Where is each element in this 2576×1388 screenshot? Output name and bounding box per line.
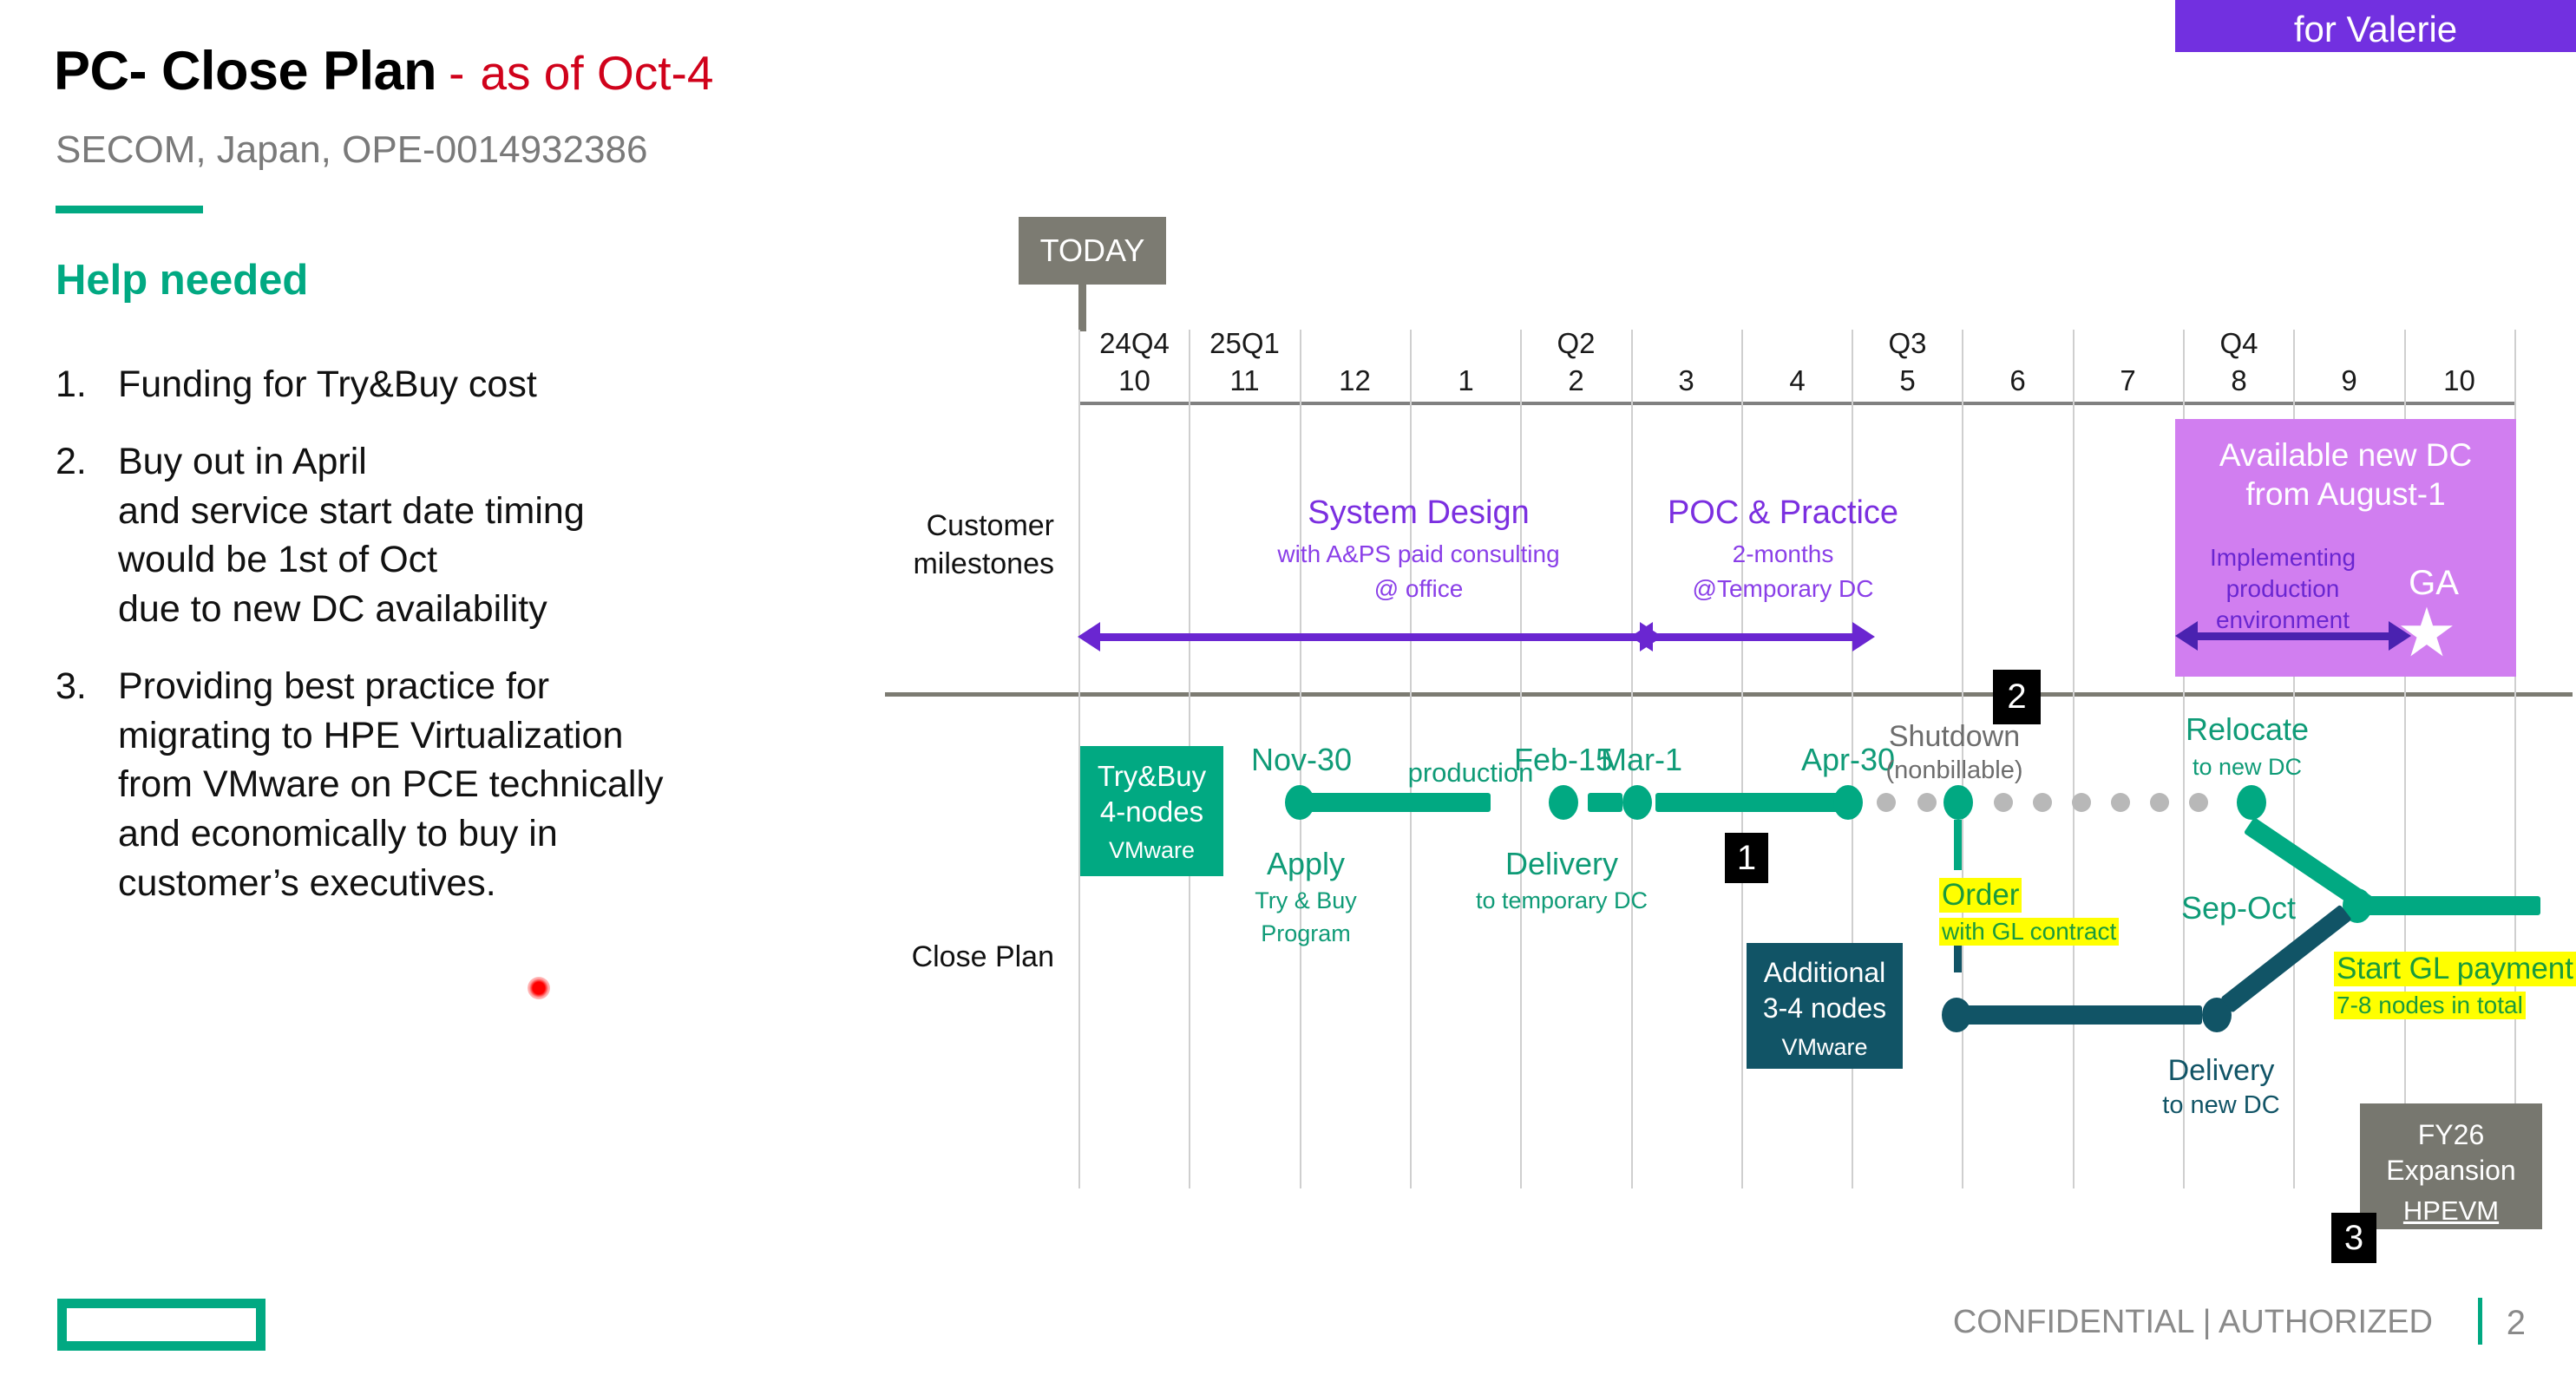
valerie-note-line2: for Valerie xyxy=(2175,7,2576,52)
column-header-month: 10 xyxy=(1079,364,1190,397)
arrow-poc-head-left xyxy=(1630,622,1653,651)
label-delivery-temp-sub: to temporary DC xyxy=(1419,885,1705,918)
list-item: 2. Buy out in April and service start da… xyxy=(56,437,836,634)
today-flag-stem xyxy=(1078,285,1086,331)
milestone-subtitle: with A&PS paid consulting @ office xyxy=(1189,537,1649,606)
milestone-dot-apr30 xyxy=(1833,785,1863,820)
label-order-sub: with GL contract xyxy=(1939,918,2119,946)
footer-separator xyxy=(2478,1298,2482,1345)
row-label-line1: Customer xyxy=(829,507,1054,546)
arrow-dc-head-left xyxy=(2175,621,2198,651)
column-header-quarter: 24Q4 xyxy=(1079,327,1190,360)
mouse-cursor-dot xyxy=(528,977,550,999)
timeline-bar-additional xyxy=(1965,1005,2202,1025)
page-number: 2 xyxy=(2507,1304,2526,1343)
page-title: PC- Close Plan xyxy=(54,40,436,102)
timeline-bar-sepoct xyxy=(2367,896,2540,915)
column-header-month: 8 xyxy=(2184,364,2294,397)
valerie-note-line1: as of October-4 xyxy=(2175,0,2576,7)
column-header-month: 5 xyxy=(1852,364,1963,397)
additional-nodes-block: Additional 3-4 nodes VMware xyxy=(1747,943,1903,1069)
label-delivery-newdc-sub: to new DC xyxy=(2134,1091,2308,1120)
grid-column-line xyxy=(2073,330,2075,1188)
badge-1: 1 xyxy=(1725,833,1768,883)
title-dash: - xyxy=(449,45,464,101)
fy26-title: FY26 Expansion xyxy=(2360,1117,2542,1188)
column-header-month: 2 xyxy=(1521,364,1631,397)
dc-block-title: Available new DC from August-1 xyxy=(2175,435,2516,514)
label-delivery-newdc-title: Delivery xyxy=(2134,1054,2308,1088)
slide-root: as of October-4 for Valerie PC- Close Pl… xyxy=(0,0,2576,1388)
label-start-gl-payment: Start GL payment xyxy=(2334,952,2576,986)
section-heading: Help needed xyxy=(56,256,308,304)
dotted-marker xyxy=(2033,793,2052,812)
trybuy-4nodes-block: Try&Buy 4-nodes VMware xyxy=(1080,746,1223,876)
title-asof-date: as of Oct-4 xyxy=(480,45,713,101)
bullet-text: Funding for Try&Buy cost xyxy=(118,360,537,409)
gl-nodes-highlight: 7-8 nodes in total xyxy=(2334,992,2526,1019)
milestone-subtitle: 2-months @Temporary DC xyxy=(1609,537,1957,606)
gl-payment-highlight: Start GL payment xyxy=(2334,952,2576,986)
column-header-month: 6 xyxy=(1963,364,2073,397)
additional-vendor: VMware xyxy=(1747,1034,1903,1061)
column-header-quarter: Q3 xyxy=(1852,327,1963,360)
label-shutdown-sub: (nonbillable) xyxy=(1839,756,2069,785)
label-gl-nodes-total: 7-8 nodes in total xyxy=(2334,992,2526,1019)
accent-bar xyxy=(56,206,203,213)
milestone-dot-shutdown xyxy=(1943,785,1973,820)
label-apply-title: Apply xyxy=(1249,846,1362,882)
arrow-system-design-line xyxy=(1100,633,1640,641)
timeline-bar-mar-apr xyxy=(1655,793,1842,812)
arrow-poc-line xyxy=(1653,633,1852,641)
dotted-marker xyxy=(2111,793,2130,812)
subtitle: SECOM, Japan, OPE-0014932386 xyxy=(56,128,647,172)
dotted-marker xyxy=(2150,793,2169,812)
dotted-marker xyxy=(2189,793,2208,812)
dotted-marker xyxy=(2072,793,2091,812)
order-highlight: Order xyxy=(1939,878,2022,913)
grid-column-line xyxy=(1741,330,1743,1188)
milestone-title: POC & Practice xyxy=(1609,494,1957,532)
row-label-customer-milestones: Customer milestones xyxy=(829,507,1054,583)
milestone-dot-mar1 xyxy=(1622,785,1652,820)
row-label-close-plan: Close Plan xyxy=(829,939,1054,977)
label-relocate-sub: to new DC xyxy=(2143,751,2351,784)
fy26-expansion-block: FY26 Expansion HPEVM xyxy=(2360,1103,2542,1229)
bullet-text: Providing best practice for migrating to… xyxy=(118,662,664,908)
arrow-poc-head-right xyxy=(1852,622,1875,651)
list-item: 1. Funding for Try&Buy cost xyxy=(56,360,836,409)
date-mar1: Mar-1 xyxy=(1572,742,1711,778)
timeline-bar-production xyxy=(1300,793,1491,812)
list-item: 3. Providing best practice for migrating… xyxy=(56,662,836,908)
date-nov30: Nov-30 xyxy=(1232,742,1371,778)
milestone-poc-practice: POC & Practice 2-months @Temporary DC xyxy=(1609,494,1957,606)
fy26-product: HPEVM xyxy=(2360,1195,2542,1227)
column-header-month: 9 xyxy=(2294,364,2404,397)
column-header-quarter: Q4 xyxy=(2184,327,2294,360)
today-flag: TODAY xyxy=(1019,217,1166,285)
dotted-marker xyxy=(1877,793,1896,812)
column-header-month: 11 xyxy=(1190,364,1300,397)
valerie-note: as of October-4 for Valerie xyxy=(2175,0,2576,52)
column-header-quarter: 25Q1 xyxy=(1190,327,1300,360)
title-row: PC- Close Plan-as of Oct-4 xyxy=(54,40,713,102)
trybuy-title: Try&Buy 4-nodes xyxy=(1080,758,1223,830)
milestone-title: System Design xyxy=(1189,494,1649,532)
column-header-month: 3 xyxy=(1631,364,1741,397)
order-sub-highlight: with GL contract xyxy=(1939,918,2119,946)
badge-3: 3 xyxy=(2331,1213,2376,1263)
bullet-number: 2. xyxy=(56,437,118,634)
axis-rule xyxy=(1078,402,2514,405)
label-shutdown-title: Shutdown xyxy=(1839,720,2069,754)
badge-2: 2 xyxy=(1993,670,2041,724)
label-order-title: Order xyxy=(1939,878,2022,913)
label-sep-oct: Sep-Oct xyxy=(2152,890,2325,926)
dc-block-subtitle: Implementing production environment xyxy=(2174,542,2391,635)
label-relocate-title: Relocate xyxy=(2143,711,2351,748)
arrow-system-design-head-left xyxy=(1078,622,1100,651)
shutdown-connector xyxy=(1954,820,1962,870)
label-delivery-temp-title: Delivery xyxy=(1475,846,1649,882)
trybuy-vendor: VMware xyxy=(1080,837,1223,864)
hpe-logo xyxy=(57,1299,265,1351)
column-header-month: 1 xyxy=(1411,364,1521,397)
label-apply-sub: Try & Buy Program xyxy=(1232,885,1380,951)
timeline-bar-feb-mar xyxy=(1588,793,1622,812)
milestone-dot-feb15 xyxy=(1549,785,1578,820)
arrow-dc-line xyxy=(2198,632,2389,640)
arrow-dc-head-right xyxy=(2389,621,2411,651)
milestone-dot-relocate xyxy=(2237,785,2266,820)
additional-title: Additional 3-4 nodes xyxy=(1747,955,1903,1025)
milestone-system-design: System Design with A&PS paid consulting … xyxy=(1189,494,1649,606)
column-header-month: 12 xyxy=(1300,364,1410,397)
dotted-marker xyxy=(1917,793,1937,812)
bullet-number: 1. xyxy=(56,360,118,409)
column-header-quarter: Q2 xyxy=(1521,327,1631,360)
confidential-notice: CONFIDENTIAL | AUTHORIZED xyxy=(1953,1304,2433,1341)
column-header-month: 4 xyxy=(1742,364,1852,397)
row-label-line2: milestones xyxy=(829,546,1054,584)
column-header-month: 10 xyxy=(2404,364,2514,397)
bullet-number: 3. xyxy=(56,662,118,908)
bullet-list: 1. Funding for Try&Buy cost 2. Buy out i… xyxy=(56,360,836,936)
dotted-marker xyxy=(1994,793,2013,812)
bullet-text: Buy out in April and service start date … xyxy=(118,437,585,634)
column-header-month: 7 xyxy=(2073,364,2183,397)
